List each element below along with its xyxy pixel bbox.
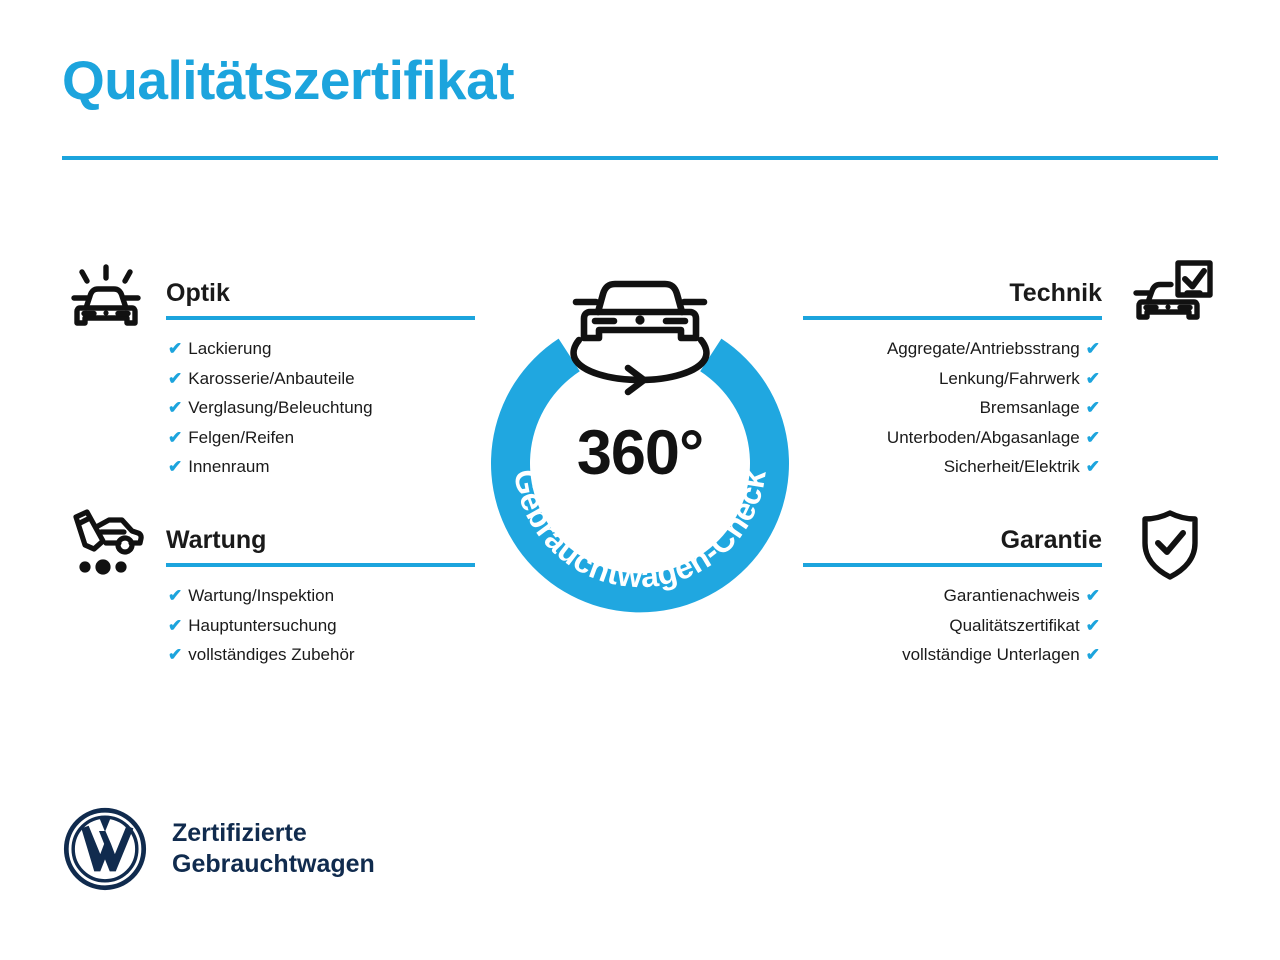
check-icon: ✔ (1086, 369, 1100, 388)
list-item-label: vollständige Unterlagen (902, 645, 1080, 664)
list-item: ✔Felgen/Reifen (168, 423, 478, 453)
car-rotate-icon (574, 284, 707, 392)
section-technik-divider (803, 316, 1102, 320)
check-icon: ✔ (168, 616, 182, 635)
section-wartung-header: Wartung (58, 505, 478, 567)
car-checkbox-icon (1124, 258, 1216, 338)
check-icon: ✔ (1086, 586, 1100, 605)
section-wartung-title: Wartung (166, 528, 266, 553)
list-item: Garantienachweis✔ (800, 581, 1100, 611)
list-item-label: Lackierung (188, 339, 271, 358)
list-item: Bremsanlage✔ (800, 393, 1100, 423)
section-technik-list: Aggregate/Antriebsstrang✔ Lenkung/Fahrwe… (800, 320, 1220, 482)
page-title: Qualitätszertifikat (62, 52, 1218, 110)
section-optik-list: ✔Lackierung ✔Karosserie/Anbauteile ✔Verg… (58, 320, 478, 482)
list-item-label: Garantienachweis (944, 586, 1080, 605)
list-item: vollständige Unterlagen✔ (800, 640, 1100, 670)
list-item: Qualitätszertifikat✔ (800, 611, 1100, 641)
check-icon: ✔ (1086, 398, 1100, 417)
vw-logo (62, 806, 148, 892)
check-icon: ✔ (1086, 457, 1100, 476)
section-garantie-title: Garantie (1001, 528, 1102, 553)
list-item-label: Verglasung/Beleuchtung (188, 398, 372, 417)
list-item: Lenkung/Fahrwerk✔ (800, 364, 1100, 394)
car-shine-icon (60, 258, 152, 338)
check-icon: ✔ (168, 645, 182, 664)
list-item: ✔vollständiges Zubehör (168, 640, 478, 670)
section-technik: Technik Aggregate/Antriebsstrang✔ Lenkun… (800, 258, 1220, 482)
list-item-label: vollständiges Zubehör (188, 645, 354, 664)
check-icon: ✔ (1086, 339, 1100, 358)
check-icon: ✔ (168, 428, 182, 447)
check-icon: ✔ (168, 586, 182, 605)
list-item-label: Bremsanlage (980, 398, 1080, 417)
footer-brand: Zertifizierte Gebrauchtwagen (62, 806, 375, 892)
list-item-label: Aggregate/Antriebsstrang (887, 339, 1080, 358)
section-optik: Optik ✔Lackierung ✔Karosserie/Anbauteile… (58, 258, 478, 482)
list-item-label: Wartung/Inspektion (188, 586, 334, 605)
vw-wordmark: Zertifizierte Gebrauchtwagen (172, 818, 375, 881)
header-divider (62, 156, 1218, 160)
check-icon: ✔ (168, 398, 182, 417)
section-optik-header: Optik (58, 258, 478, 320)
list-item: Aggregate/Antriebsstrang✔ (800, 334, 1100, 364)
car-service-pencil-icon (60, 505, 152, 585)
list-item-label: Hauptuntersuchung (188, 616, 336, 635)
list-item: ✔Karosserie/Anbauteile (168, 364, 478, 394)
list-item: Unterboden/Abgasanlage✔ (800, 423, 1100, 453)
list-item: ✔Lackierung (168, 334, 478, 364)
vw-wordmark-line2: Gebrauchtwagen (172, 849, 375, 880)
badge-number: 360° (462, 422, 818, 485)
list-item-label: Qualitätszertifikat (949, 616, 1079, 635)
section-optik-divider (166, 316, 475, 320)
check-icon: ✔ (168, 457, 182, 476)
list-item: ✔Hauptuntersuchung (168, 611, 478, 641)
list-item-label: Unterboden/Abgasanlage (887, 428, 1080, 447)
badge-360-gebrauchtwagen-check: Gebrauchtwagen-Check 360° (462, 246, 818, 632)
list-item: Sicherheit/Elektrik✔ (800, 452, 1100, 482)
list-item-label: Sicherheit/Elektrik (944, 457, 1080, 476)
section-technik-title: Technik (1009, 281, 1102, 306)
section-garantie-divider (803, 563, 1102, 567)
section-wartung: Wartung ✔Wartung/Inspektion ✔Hauptunters… (58, 505, 478, 670)
list-item: ✔Innenraum (168, 452, 478, 482)
vw-wordmark-line1: Zertifizierte (172, 818, 375, 849)
section-garantie-header: Garantie (800, 505, 1220, 567)
list-item-label: Karosserie/Anbauteile (188, 369, 354, 388)
section-garantie: Garantie Garantienachweis✔ Qualitätszert… (800, 505, 1220, 670)
shield-check-icon (1124, 505, 1216, 585)
check-icon: ✔ (168, 339, 182, 358)
list-item-label: Felgen/Reifen (188, 428, 294, 447)
check-icon: ✔ (1086, 428, 1100, 447)
check-icon: ✔ (168, 369, 182, 388)
page-header: Qualitätszertifikat (62, 52, 1218, 160)
section-wartung-divider (166, 563, 475, 567)
list-item-label: Lenkung/Fahrwerk (939, 369, 1080, 388)
section-optik-title: Optik (166, 281, 230, 306)
list-item: ✔Verglasung/Beleuchtung (168, 393, 478, 423)
list-item: ✔Wartung/Inspektion (168, 581, 478, 611)
check-icon: ✔ (1086, 616, 1100, 635)
section-technik-header: Technik (800, 258, 1220, 320)
check-icon: ✔ (1086, 645, 1100, 664)
list-item-label: Innenraum (188, 457, 269, 476)
